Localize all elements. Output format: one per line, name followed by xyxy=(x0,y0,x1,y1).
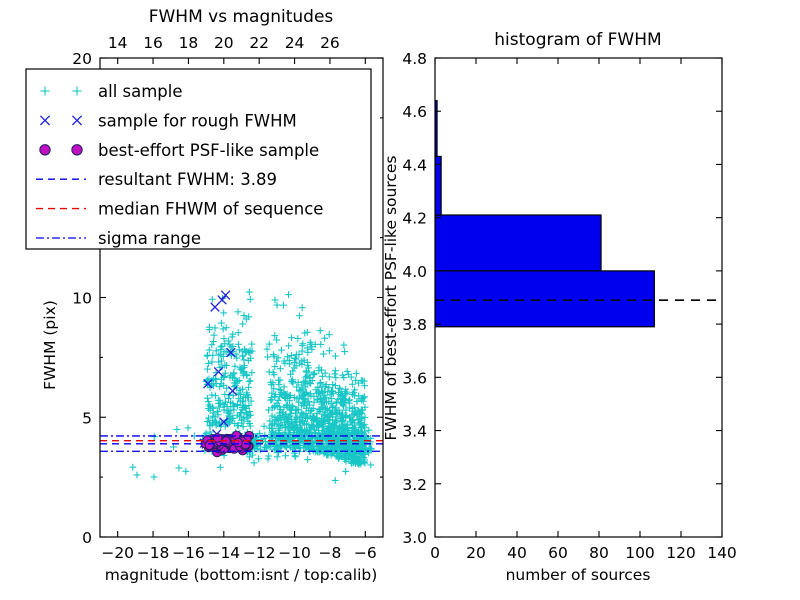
scatter-marker xyxy=(248,341,255,348)
scatter-marker xyxy=(209,392,216,399)
left-top-xtick-label: 26 xyxy=(320,34,340,52)
scatter-marker xyxy=(185,424,192,431)
scatter-marker xyxy=(217,464,224,471)
right-xtick-label: 140 xyxy=(707,544,737,562)
scatter-marker xyxy=(285,342,292,349)
scatter-marker xyxy=(247,296,254,303)
scatter-marker xyxy=(220,310,227,317)
scatter-marker xyxy=(280,302,287,309)
right-ytick-label: 3.6 xyxy=(402,369,427,387)
scatter-marker xyxy=(340,342,347,349)
histogram-bars-layer xyxy=(435,101,654,327)
scatter-marker xyxy=(332,367,339,374)
right-ytick-label: 4.8 xyxy=(402,50,427,68)
right-xtick-label: 60 xyxy=(548,544,568,562)
scatter-marker xyxy=(251,459,258,466)
left-xtick-label: −12 xyxy=(243,544,276,562)
right-yaxis-label: FWHM of best-effort PSF-like sources xyxy=(382,155,400,440)
histogram-bar xyxy=(435,156,441,215)
left-xtick-label: −6 xyxy=(354,544,377,562)
scatter-marker xyxy=(240,423,247,430)
scatter-marker xyxy=(294,335,301,342)
scatter-points-layer xyxy=(129,243,375,484)
scatter-marker xyxy=(214,367,223,376)
scatter-marker xyxy=(282,452,289,459)
scatter-marker xyxy=(212,325,219,332)
scatter-marker xyxy=(285,291,292,298)
scatter-marker xyxy=(175,465,182,472)
right-xtick-label: 120 xyxy=(666,544,696,562)
legend-entry-label: all sample xyxy=(98,82,183,101)
scatter-marker xyxy=(321,335,328,342)
left-top-xtick-label: 18 xyxy=(179,34,199,52)
scatter-marker xyxy=(209,296,216,303)
scatter-marker xyxy=(288,334,295,341)
scatter-marker xyxy=(218,320,225,327)
left-xtick-label: −20 xyxy=(101,544,134,562)
right-ytick-label: 3.0 xyxy=(402,529,427,547)
right-xtick-label: 20 xyxy=(466,544,486,562)
scatter-marker xyxy=(304,456,311,463)
scatter-marker xyxy=(182,468,189,475)
scatter-marker xyxy=(220,326,227,333)
left-yaxis-label: FWHM (pix) xyxy=(41,300,59,390)
left-top-xtick-label: 20 xyxy=(214,34,234,52)
scatter-marker xyxy=(241,357,248,364)
left-xaxis-label: magnitude (bottom:isnt / top:calib) xyxy=(105,566,378,584)
scatter-marker xyxy=(299,304,306,311)
scatter-marker xyxy=(247,377,254,384)
scatter-marker xyxy=(292,453,299,460)
left-top-xtick-label: 24 xyxy=(285,34,305,52)
left-panel-title: FWHM vs magnitudes xyxy=(149,7,334,27)
left-xtick-label: −16 xyxy=(172,544,205,562)
scatter-marker xyxy=(174,426,181,433)
scatter-marker xyxy=(211,332,218,339)
scatter-marker xyxy=(232,363,239,370)
scatter-marker xyxy=(278,347,285,354)
scatter-marker xyxy=(353,370,360,377)
right-ytick-label: 4.0 xyxy=(402,263,427,281)
legend-entry-label: median FHWM of sequence xyxy=(98,200,323,219)
psf-sample-point xyxy=(234,438,243,447)
scatter-marker xyxy=(209,359,216,366)
scatter-marker xyxy=(277,377,284,384)
left-xtick-label: −8 xyxy=(319,544,342,562)
scatter-marker xyxy=(288,378,295,385)
scatter-marker xyxy=(275,354,282,361)
scatter-marker xyxy=(284,353,291,360)
scatter-marker xyxy=(290,380,297,387)
scatter-marker xyxy=(204,352,211,359)
right-ytick-label: 3.8 xyxy=(402,316,427,334)
scatter-marker xyxy=(332,477,339,484)
legend: all samplesample for rough FWHMbest-effo… xyxy=(26,69,371,249)
scatter-marker xyxy=(299,340,306,347)
left-ytick-label: 20 xyxy=(72,50,92,68)
scatter-marker xyxy=(129,464,136,471)
right-ytick-label: 4.4 xyxy=(402,156,427,174)
scatter-marker xyxy=(205,360,212,367)
legend-circle-icon xyxy=(72,145,82,155)
right-ytick-label: 4.6 xyxy=(402,103,427,121)
scatter-marker xyxy=(216,383,223,390)
scatter-marker xyxy=(320,351,327,358)
scatter-marker xyxy=(151,474,158,481)
right-panel-histogram: histogram of FWHM 0204060801001201403.03… xyxy=(382,30,737,584)
scatter-marker xyxy=(342,468,349,475)
scatter-marker xyxy=(223,324,230,331)
scatter-marker xyxy=(255,455,262,462)
scatter-marker xyxy=(333,400,340,407)
scatter-marker xyxy=(332,374,339,381)
scatter-marker xyxy=(235,308,242,315)
scatter-marker xyxy=(261,423,268,430)
histogram-bar xyxy=(435,215,601,271)
scatter-marker xyxy=(204,395,211,402)
left-ytick-label: 5 xyxy=(82,409,92,427)
scatter-marker xyxy=(210,338,217,345)
scatter-marker xyxy=(341,348,348,355)
scatter-marker xyxy=(304,349,311,356)
scatter-marker xyxy=(246,289,253,296)
right-xtick-label: 80 xyxy=(589,544,609,562)
left-top-xtick-label: 16 xyxy=(143,34,163,52)
legend-entry-label: resultant FWHM: 3.89 xyxy=(98,170,277,189)
right-xaxis-label: number of sources xyxy=(506,566,651,584)
scatter-marker xyxy=(235,329,242,336)
scatter-marker xyxy=(134,472,141,479)
scatter-marker xyxy=(170,444,177,451)
right-ytick-label: 4.2 xyxy=(402,210,427,228)
figure-canvas: FWHM vs magnitudes −20−18−16−14−12−10−8−… xyxy=(0,0,800,600)
right-ytick-label: 3.2 xyxy=(402,476,427,494)
scatter-marker xyxy=(274,453,281,460)
right-xtick-label: 100 xyxy=(625,544,655,562)
right-xtick-label: 40 xyxy=(507,544,527,562)
left-xtick-label: −14 xyxy=(207,544,240,562)
scatter-marker xyxy=(326,347,333,354)
right-xtick-label: 0 xyxy=(430,544,440,562)
histogram-bar xyxy=(435,271,654,327)
matplotlib-figure: FWHM vs magnitudes −20−18−16−14−12−10−8−… xyxy=(0,0,800,600)
right-ytick-label: 3.4 xyxy=(402,423,427,441)
legend-entry-label: best-effort PSF-like sample xyxy=(98,141,319,160)
left-top-xtick-label: 14 xyxy=(108,34,128,52)
scatter-marker xyxy=(239,321,246,328)
scatter-marker xyxy=(326,331,333,338)
scatter-marker xyxy=(344,368,351,375)
right-panel-title: histogram of FWHM xyxy=(494,30,661,50)
scatter-marker xyxy=(204,366,211,373)
scatter-marker xyxy=(231,407,238,414)
left-xtick-label: −10 xyxy=(278,544,311,562)
psf-sample-point xyxy=(205,441,214,450)
scatter-marker xyxy=(296,312,303,319)
scatter-marker xyxy=(317,327,324,334)
left-ytick-label: 0 xyxy=(82,529,92,547)
left-top-xtick-label: 22 xyxy=(249,34,269,52)
scatter-marker xyxy=(332,353,339,360)
legend-circle-icon xyxy=(40,145,50,155)
left-xtick-label: −18 xyxy=(137,544,170,562)
scatter-marker xyxy=(264,354,271,361)
left-ytick-label: 10 xyxy=(72,290,92,308)
scatter-marker xyxy=(367,462,374,469)
legend-entry-label: sigma range xyxy=(98,229,201,248)
legend-entry-label: sample for rough FWHM xyxy=(98,111,297,130)
